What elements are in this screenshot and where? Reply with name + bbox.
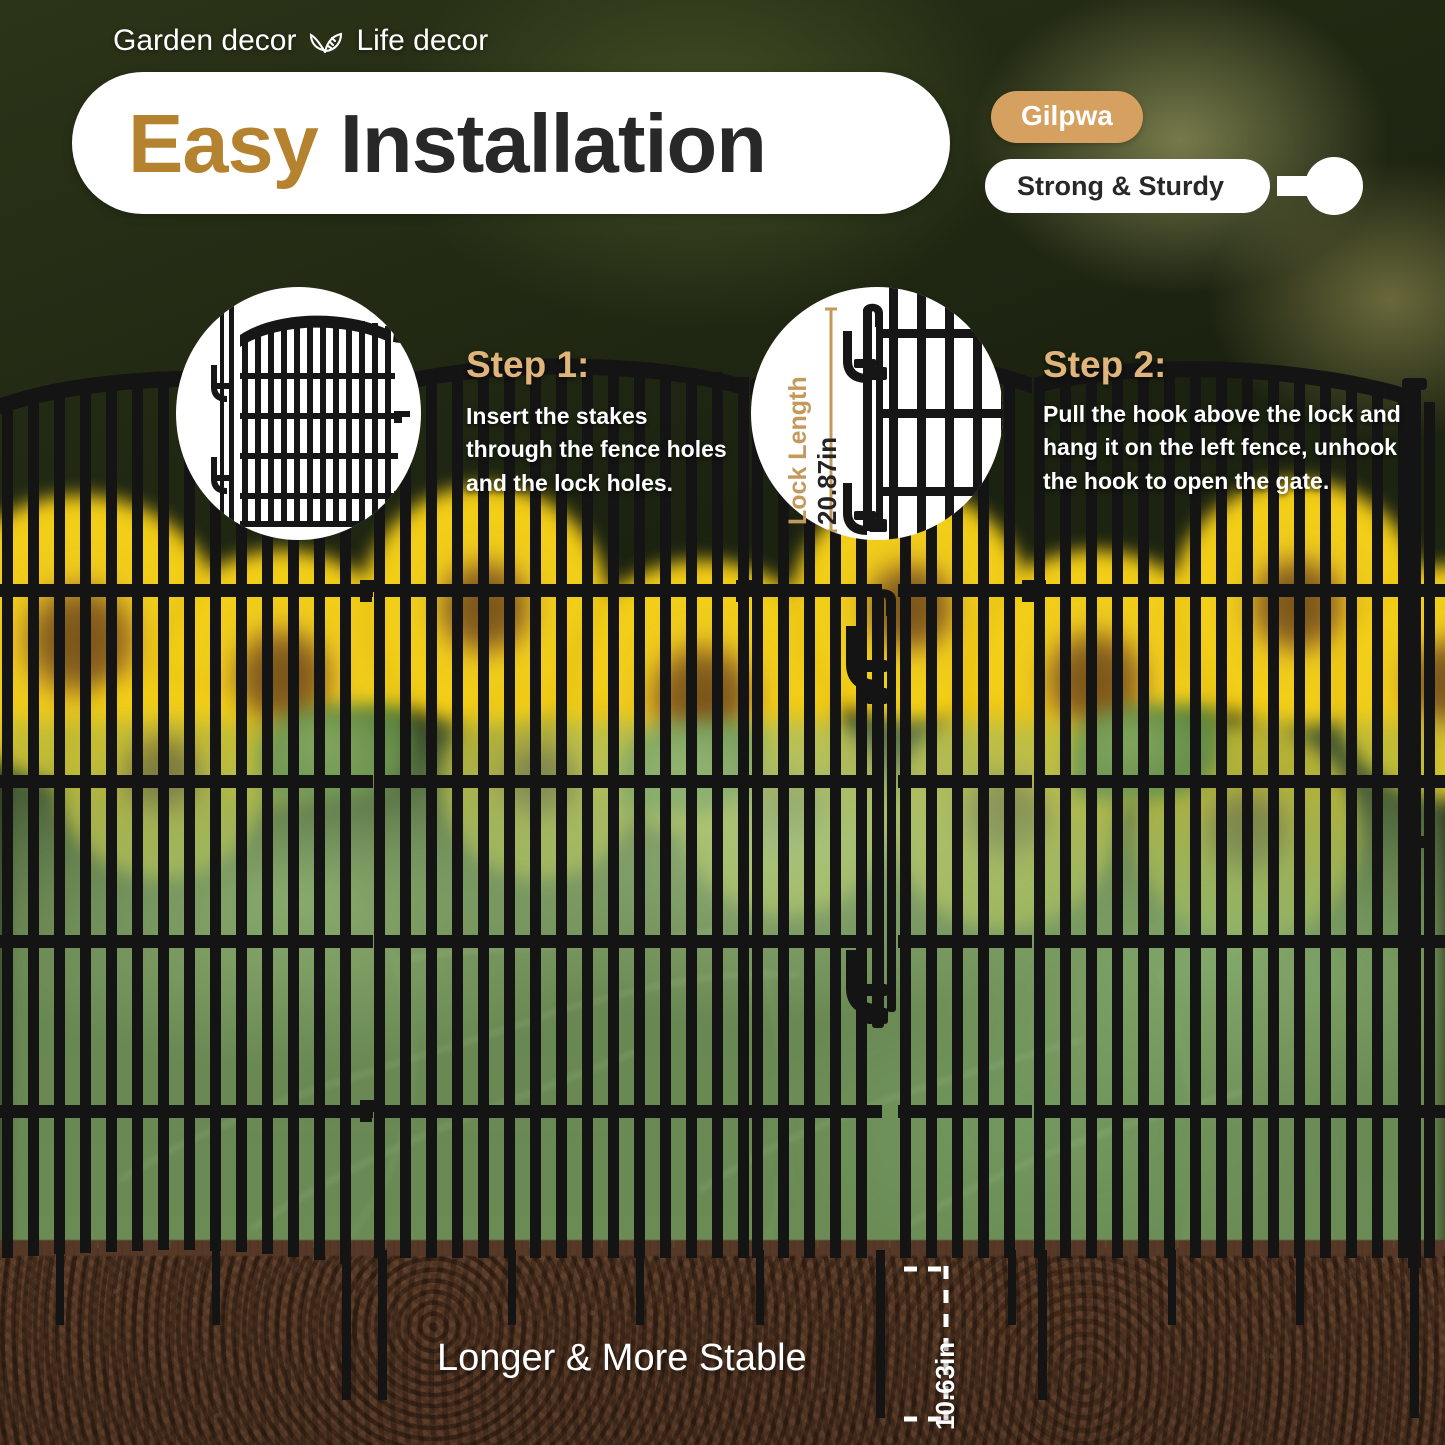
page-title-accent-word: Easy xyxy=(128,102,318,185)
fence-illustration xyxy=(0,0,1445,1445)
ground-caption: Longer & More Stable xyxy=(437,1337,807,1380)
feature-badge: Strong & Sturdy xyxy=(985,159,1270,213)
lock-length-value: 20.87in xyxy=(812,437,843,525)
step-2-body: Pull the hook above the lock and hang it… xyxy=(1043,398,1428,498)
step-2-heading: Step 2: xyxy=(1043,344,1166,386)
ground-depth-value: 10.63in xyxy=(930,1342,961,1430)
page-title-main-word: Installation xyxy=(340,102,766,185)
lock-length-label: Lock Length xyxy=(784,376,813,525)
brand-tagline-right: Life decor xyxy=(356,24,488,58)
step-1-body: Insert the stakes through the fence hole… xyxy=(466,400,728,500)
brand-tagline: Garden decor Life decor xyxy=(113,24,488,58)
brand-badge: Gilpwa xyxy=(991,91,1143,143)
fence-panels xyxy=(0,358,1445,1418)
infographic-canvas: Garden decor Life decor Easy Installatio… xyxy=(0,0,1445,1445)
gate-lock-assembly xyxy=(846,589,896,1418)
brand-tagline-left: Garden decor xyxy=(113,24,296,58)
feature-badge-dot xyxy=(1305,157,1363,215)
lock-length-annotation: Lock Length 20.87in xyxy=(782,355,828,525)
leaf-sprout-icon xyxy=(306,26,346,56)
step-1-heading: Step 1: xyxy=(466,344,589,386)
page-title: Easy Installation xyxy=(72,72,950,214)
step-1-inset xyxy=(176,287,421,540)
